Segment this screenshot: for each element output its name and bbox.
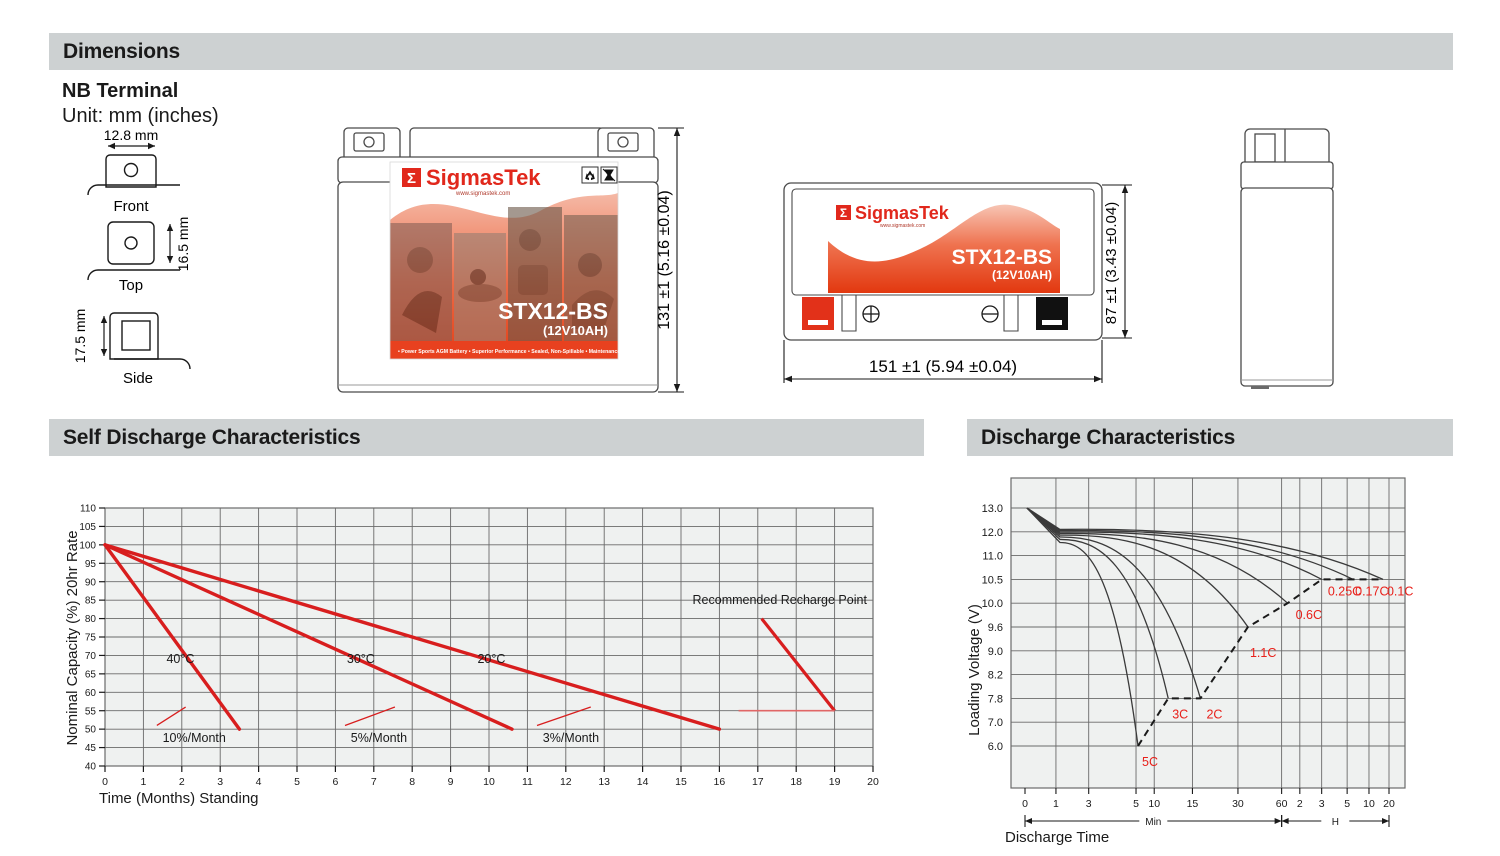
brand-name: SigmasTek	[426, 165, 541, 190]
x-tick-label: 2	[1297, 798, 1303, 810]
battery-rating-side: (12V10AH)	[992, 268, 1052, 282]
y-axis-title: Nominal Capacity (%) 20hr Rate	[64, 530, 81, 745]
x-axis-title: Time (Months) Standing	[99, 790, 259, 807]
battery-width-label: 87 ±1 (3.43 ±0.04)	[1103, 202, 1120, 324]
c-rate-label-2C: 2C	[1206, 707, 1222, 721]
battery-length-label: 151 ±1 (5.94 ±0.04)	[869, 357, 1017, 376]
nb-terminal-title: NB Terminal	[62, 80, 178, 103]
annotation-label: 40°C	[166, 652, 194, 666]
section-title-self-discharge: Self Discharge Characteristics	[63, 426, 360, 450]
x-tick-label: 17	[752, 776, 764, 788]
y-tick-label: 55	[85, 706, 97, 717]
terminal-side-caption: Side	[123, 370, 153, 387]
c-rate-label-1.1C: 1.1C	[1250, 646, 1276, 660]
x-tick-label: 15	[1187, 798, 1199, 810]
y-tick-label: 100	[79, 540, 96, 551]
grid-lines	[105, 508, 873, 766]
terminal-top-view	[88, 222, 180, 280]
c-rate-label-0.6C: 0.6C	[1296, 608, 1322, 622]
time-scale-bar: MinH	[1025, 814, 1389, 828]
c-rate-label-0.1C: 0.1C	[1387, 584, 1413, 598]
annotation-label: 5%/Month	[351, 731, 407, 745]
x-tick-label: 1	[140, 776, 146, 788]
y-tick-label: 105	[79, 522, 96, 533]
c-rate-label-0.17C: 0.17C	[1355, 584, 1388, 598]
c-rate-label-5C: 5C	[1142, 755, 1158, 769]
y-tick-label: 12.0	[982, 527, 1003, 539]
annotation-label: 3%/Month	[543, 731, 599, 745]
y-tick-label: 45	[85, 743, 97, 754]
y-tick-label: 6.0	[988, 741, 1003, 753]
x-tick-label: 15	[675, 776, 687, 788]
battery-end-body	[1241, 188, 1333, 386]
terminal-height-label: 16.5 mm	[175, 217, 191, 271]
y-tick-label: 11.0	[982, 551, 1003, 563]
annotation-label: 20°C	[477, 652, 505, 666]
x-tick-label: 12	[560, 776, 572, 788]
y-tick-label: 50	[85, 725, 97, 736]
terminal-views-diagram: 12.8 mm Front Top 16.5 mm 17.5 mm Side	[60, 130, 290, 405]
scale-segment-label: H	[1332, 817, 1339, 828]
battery-end-vent	[1255, 134, 1275, 162]
terminal-front-caption: Front	[113, 198, 149, 215]
battery-model-side: STX12-BS	[952, 246, 1052, 269]
y-tick-label: 95	[85, 559, 97, 570]
self-discharge-chart: 404550556065707580859095100105110 012345…	[55, 478, 885, 823]
x-tick-label: 20	[867, 776, 879, 788]
y-axis-title: Loading Voltage (V)	[966, 604, 983, 736]
y-axis-ticks: 13.012.011.010.510.09.69.08.27.87.06.0	[982, 503, 1003, 753]
brand-website: www.sigmastek.com	[455, 191, 510, 197]
x-tick-label: 10	[1148, 798, 1160, 810]
negative-terminal-block	[1036, 297, 1068, 330]
battery-end-lid	[1241, 162, 1333, 189]
y-tick-label: 40	[85, 762, 97, 773]
x-tick-label: 9	[448, 776, 454, 788]
y-tick-label: 9.0	[988, 646, 1003, 658]
y-tick-label: 85	[85, 596, 97, 607]
x-tick-label: 13	[598, 776, 610, 788]
battery-height-label: 131 ±1 (5.16 ±0.04)	[656, 190, 673, 329]
y-tick-label: 70	[85, 651, 97, 662]
y-axis-ticks: 404550556065707580859095100105110	[79, 504, 105, 773]
annotation-label: 10%/Month	[163, 731, 226, 745]
x-tick-label: 2	[179, 776, 185, 788]
section-header-discharge: Discharge Characteristics	[967, 419, 1453, 456]
x-tick-label: 3	[217, 776, 223, 788]
battery-model-front: STX12-BS	[498, 298, 608, 324]
y-tick-label: 80	[85, 614, 97, 625]
y-tick-label: 60	[85, 688, 97, 699]
unit-label: Unit: mm (inches)	[62, 105, 219, 128]
terminal-width-dimension	[108, 143, 155, 149]
terminal-height-dimension	[167, 224, 173, 263]
x-tick-label: 3	[1319, 798, 1325, 810]
battery-tagline: • Power Sports AGM Battery • Superior Pe…	[398, 349, 633, 355]
x-tick-label: 5	[1344, 798, 1350, 810]
sigma-mark: Σ	[407, 170, 416, 187]
x-tick-label: 20	[1383, 798, 1395, 810]
x-tick-label: 3	[1086, 798, 1092, 810]
x-tick-label: 5	[294, 776, 300, 788]
section-title-discharge: Discharge Characteristics	[981, 426, 1235, 450]
y-tick-label: 10.5	[982, 574, 1003, 586]
battery-end-view	[1237, 118, 1337, 398]
x-tick-label: 4	[256, 776, 262, 788]
sigma-mark-side: Σ	[840, 206, 847, 220]
plot-area	[1011, 478, 1405, 788]
annotation-label: Recommended Recharge Point	[693, 593, 868, 607]
x-axis-title: Discharge Time	[1005, 829, 1109, 846]
x-tick-label: 60	[1276, 798, 1288, 810]
annotation-label: 30°C	[347, 652, 375, 666]
x-tick-label: 19	[829, 776, 841, 788]
x-tick-label: 16	[714, 776, 726, 788]
y-tick-label: 65	[85, 669, 97, 680]
x-tick-label: 0	[1022, 798, 1028, 810]
y-tick-label: 90	[85, 577, 97, 588]
positive-terminal-block	[802, 297, 834, 330]
y-tick-label: 10.0	[982, 598, 1003, 610]
brand-website-side: www.sigmastek.com	[880, 223, 925, 229]
discharge-chart: 13.012.011.010.510.09.69.08.27.87.06.0 0…	[963, 470, 1463, 850]
section-title-dimensions: Dimensions	[63, 40, 180, 64]
x-tick-label: 11	[522, 776, 533, 788]
x-tick-label: 7	[371, 776, 377, 788]
x-axis-ticks: 01234567891011121314151617181920	[102, 766, 879, 788]
battery-top-caps	[344, 128, 654, 157]
x-tick-label: 0	[102, 776, 108, 788]
y-tick-label: 7.8	[988, 693, 1003, 705]
brand-name-side: SigmasTek	[855, 203, 950, 223]
section-header-dimensions: Dimensions	[49, 33, 1453, 70]
scale-segment-label: Min	[1145, 817, 1161, 828]
x-tick-label: 30	[1232, 798, 1244, 810]
y-tick-label: 8.2	[988, 670, 1003, 682]
battery-rating-front: (12V10AH)	[543, 323, 608, 338]
x-tick-label: 5	[1133, 798, 1139, 810]
c-rate-label-3C: 3C	[1172, 707, 1188, 721]
terminal-width-label: 12.8 mm	[104, 130, 158, 143]
battery-front-view: Σ SigmasTek www.sigmastek.com STX12-BS (…	[332, 115, 704, 398]
y-tick-label: 13.0	[982, 503, 1003, 515]
x-axis-ticks: 0135101530602351020	[1022, 788, 1395, 810]
y-tick-label: 7.0	[988, 717, 1003, 729]
terminal-top-caption: Top	[119, 277, 143, 294]
terminal-depth-dimension	[101, 316, 107, 356]
x-tick-label: 6	[332, 776, 338, 788]
section-header-self-discharge: Self Discharge Characteristics	[49, 419, 924, 456]
terminal-front-view	[88, 155, 180, 195]
terminal-side-view	[110, 313, 190, 369]
x-tick-label: 1	[1053, 798, 1059, 810]
x-tick-label: 18	[790, 776, 802, 788]
y-tick-label: 9.6	[988, 622, 1003, 634]
battery-side-view: Σ SigmasTek www.sigmastek.com STX12-BS (…	[780, 175, 1162, 390]
x-tick-label: 14	[637, 776, 649, 788]
x-tick-label: 10	[483, 776, 495, 788]
y-tick-label: 75	[85, 633, 97, 644]
terminal-depth-label: 17.5 mm	[72, 309, 88, 363]
x-tick-label: 10	[1363, 798, 1375, 810]
x-tick-label: 8	[409, 776, 415, 788]
y-tick-label: 110	[80, 504, 96, 515]
